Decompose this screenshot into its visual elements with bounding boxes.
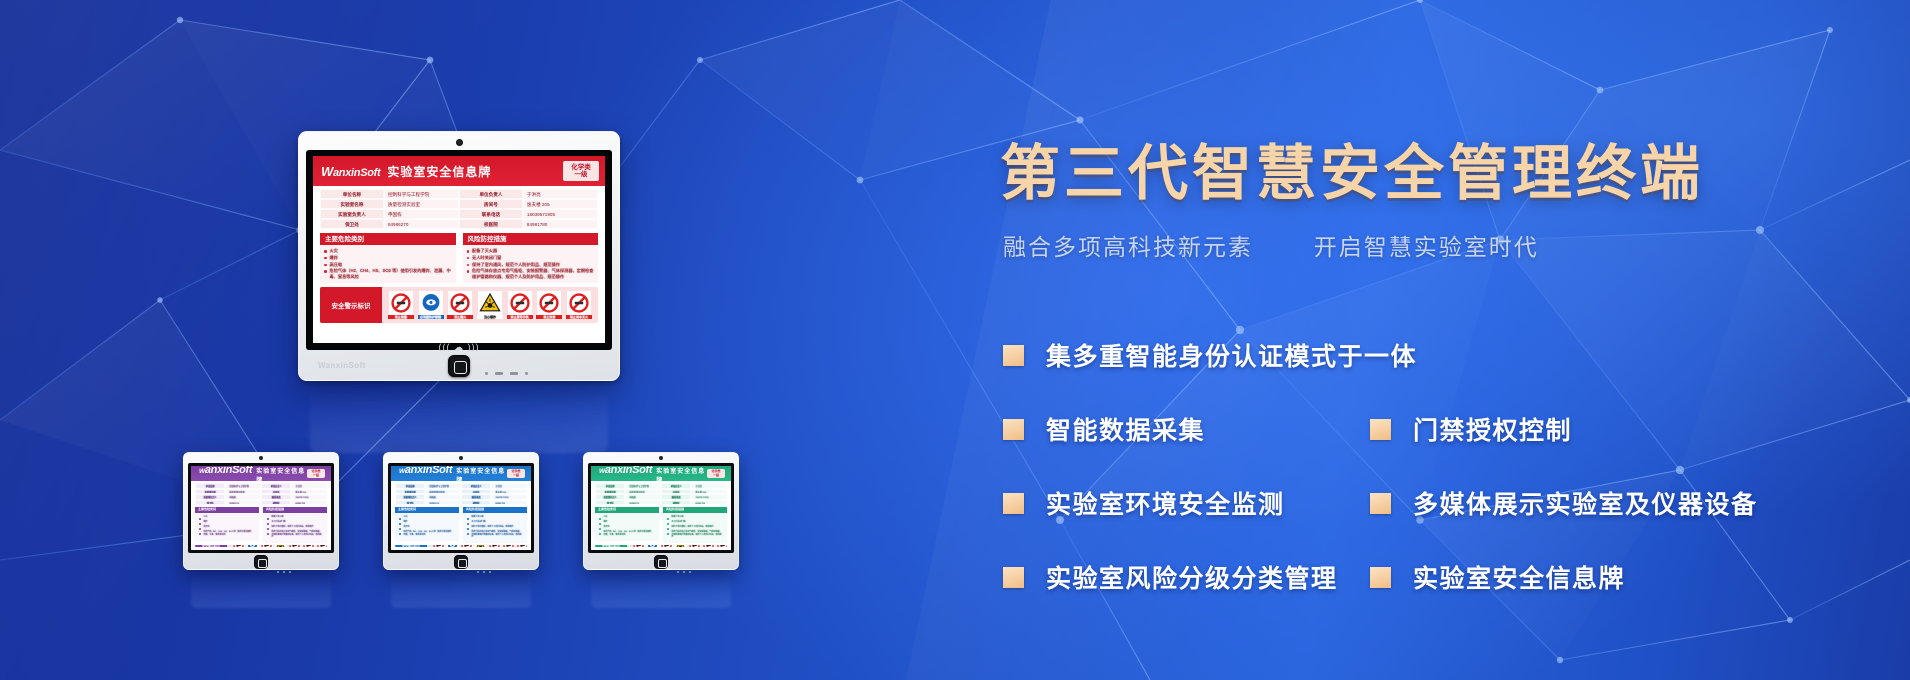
bullet-dot-icon: [324, 264, 327, 267]
bullet-dot-icon: [599, 528, 601, 530]
list-item-text: 无人时关闭门窗: [472, 255, 501, 260]
list-item-text: 高压电: [204, 526, 210, 529]
warning-sign: 禁止携带手机: [487, 545, 501, 547]
list-item-text: 保持了室内通风，规范个人防护用品、规范操作: [272, 526, 314, 529]
bullet-dot-icon: [324, 270, 327, 273]
list-item: 高压电: [399, 526, 455, 530]
no-water-icon: [516, 545, 528, 547]
banner-text-block: 第三代智慧安全管理终端 融合多项高科技新元素 开启智慧实验室时代 集多重智能身份…: [985, 0, 1910, 680]
table-cell-label: 房间号: [459, 199, 523, 209]
panel-right-header: 风险防控措施: [463, 233, 599, 245]
warning-icon-row: 禁止吸烟 必须戴防护眼镜 禁止烟火 当心爆炸 禁止携带手机 禁止饮食: [427, 545, 527, 547]
tablet-reflection: [391, 572, 531, 608]
feature-row: 集多重智能身份认证模式于一体: [985, 318, 1910, 392]
brand-logo: WanxinSoft 实验室安全信息牌: [199, 466, 307, 484]
list-item: 高压电: [199, 526, 255, 530]
tablet-screen[interactable]: WanxinSoft 实验室安全信息牌 化学类 一级 单位名称控制科学与工程学院…: [306, 150, 612, 350]
warning-sign-caption: 禁止携带手机: [507, 315, 533, 319]
no-water-icon: [316, 545, 328, 547]
hazard-panels: 主要危险类别 火灾爆炸高压电危险气体（H2、CH4、HS、SO2 等）使用引发的…: [391, 505, 531, 543]
bullet-dot-icon: [667, 523, 669, 525]
warning-sign: 禁止吸烟: [631, 545, 645, 547]
list-item-text: 危险气体存放点专用气瓶柜、安装报警器、气体探测器，定期检查维护管路和仪器、规范个…: [472, 531, 524, 539]
bullet-dot-icon: [199, 518, 201, 520]
lab-safety-info-sign: WanxinSoft 实验室安全信息牌 化学类 一级 单位名称控制科学与工程学院…: [313, 156, 605, 343]
warning-sign: 当心爆炸: [473, 545, 487, 547]
table-row: 实验室负责人申国栋联系电话18039571905: [320, 209, 598, 219]
warning-sign: 当心爆炸: [673, 545, 687, 547]
panel-control-measures: 风险防控措施 配备了灭火器无人时关闭门窗保持了室内通风，规范个人防护用品、规范操…: [463, 507, 527, 543]
table-cell-value: 质量检测实验室: [384, 199, 459, 209]
list-item-text: 火灾: [204, 516, 208, 519]
brand-name: anxinSoft: [205, 466, 252, 476]
panel-control-measures: 风险防控措施 配备了灭火器无人时关闭门窗保持了室内通风，规范个人防护用品、规范操…: [663, 507, 727, 543]
feature-row: 实验室环境安全监测 多媒体展示实验室及仪器设备: [985, 466, 1910, 540]
list-item-text: 火灾: [330, 248, 338, 253]
bullet-dot-icon: [199, 528, 201, 530]
list-item: 保持了室内通风，规范个人防护用品、规范操作: [467, 526, 523, 530]
feature-item-1: 智能数据采集: [985, 411, 1370, 447]
brand-name: anxinSoft: [333, 167, 380, 179]
feature-item-4: 多媒体展示实验室及仪器设备: [1370, 485, 1758, 521]
list-item-text: 配备了灭火器: [272, 516, 284, 519]
warning-sign: 禁止饮食: [301, 545, 315, 547]
warning-sign: 必须戴防护眼镜: [418, 291, 444, 319]
warning-bar-label: 安全警示标识: [395, 545, 427, 547]
lab-info-table: 单位名称控制科学与工程学院单位负责人于洪亮实验室名称质量检测实验室房间号逸夫楼 …: [191, 481, 331, 505]
wear-goggles-icon: [646, 545, 659, 547]
feature-label: 实验室风险分级分类管理: [1046, 559, 1338, 595]
sign-title: 实验室安全信息牌: [256, 466, 307, 484]
list-item: 火灾: [199, 516, 255, 520]
list-item: 火灾: [599, 516, 655, 520]
list-item-text: 危险气体存放点专用气瓶柜、安装报警器、气体探测器，定期检查维护管路和仪器、规范个…: [672, 531, 724, 539]
list-item-text: 配备了灭火器: [472, 248, 497, 253]
bullet-dot-icon: [467, 250, 470, 253]
bullet-dot-icon: [267, 528, 269, 530]
badge-level: 一级: [510, 474, 522, 477]
table-cell-label: 实验室负责人: [320, 209, 384, 219]
table-cell-value: 84986270: [384, 219, 459, 229]
warning-sign: 禁止用水灭火: [315, 545, 327, 547]
table-cell-label: 保卫处: [320, 219, 384, 229]
list-item: 配备了灭火器: [667, 516, 723, 520]
wear-goggles-icon: [419, 291, 443, 315]
brand-logo: WanxinSoft 实验室安全信息牌: [599, 466, 707, 484]
list-item-text: 高压电: [330, 262, 343, 267]
hazard-panels: 主要危险类别 火灾爆炸高压电危险气体（H2、CH4、HS、SO2 等）使用引发的…: [191, 505, 331, 543]
feature-item-3: 实验室环境安全监测: [985, 485, 1370, 521]
warning-sign: 禁止吸烟: [431, 545, 445, 547]
bullet-dot-icon: [324, 250, 327, 253]
page-title: 第三代智慧安全管理终端: [1000, 125, 1704, 212]
sign-header: WanxinSoft 实验室安全信息牌 化学类 一级: [591, 466, 731, 481]
bullet-dot-icon: [667, 518, 669, 520]
warning-sign: 当心爆炸: [477, 291, 503, 319]
bullet-dot-icon: [467, 528, 469, 530]
list-item: 火灾: [399, 516, 455, 520]
warning-sign-caption: 禁止烟火: [447, 315, 473, 319]
bullet-dot-icon: [399, 533, 401, 535]
panel-hazard-categories: 主要危险类别 火灾爆炸高压电危险气体（H2、CH4、HS、SO2 等）使用引发的…: [320, 233, 456, 283]
lab-safety-info-sign: WanxinSoft 实验室安全信息牌 化学类 一级 单位名称控制科学与工程学院…: [591, 466, 731, 550]
warning-sign: 禁止烟火: [259, 545, 273, 547]
bullet-dot-icon: [599, 523, 601, 525]
list-item: 火灾: [324, 248, 452, 253]
warning-hazard-icon: [674, 545, 687, 547]
no-smoking-icon: [632, 545, 645, 547]
list-item-text: 保持了室内通风，规范个人防护用品、规范操作: [472, 526, 514, 529]
subtitle-right: 开启智慧实验室时代: [1314, 234, 1539, 260]
sign-header: WanxinSoft 实验室安全信息牌 化学类 一级: [391, 466, 531, 481]
list-item-text: 爆炸: [404, 521, 408, 524]
feature-label: 多媒体展示实验室及仪器设备: [1413, 485, 1758, 521]
page-subtitle: 融合多项高科技新元素 开启智慧实验室时代: [1003, 228, 1539, 262]
list-item: 配备了灭火器: [467, 516, 523, 520]
warning-sign: 当心爆炸: [273, 545, 287, 547]
no-water-icon: [716, 545, 728, 547]
bullet-square-icon: [1003, 419, 1024, 440]
feature-label: 门禁授权控制: [1413, 411, 1572, 447]
sign-title: 实验室安全信息牌: [387, 163, 491, 180]
sign-title: 实验室安全信息牌: [656, 466, 707, 484]
warning-sign: 禁止烟火: [459, 545, 473, 547]
warning-hazard-icon: [474, 545, 487, 547]
feature-item-6: 实验室安全信息牌: [1370, 559, 1625, 595]
list-item: 高压电: [324, 262, 452, 267]
table-cell-label: 校医院: [459, 219, 523, 229]
feature-label: 实验室环境安全监测: [1046, 485, 1285, 521]
bullet-square-icon: [1003, 493, 1024, 514]
brand-logo: WanxinSoft 实验室安全信息牌: [399, 466, 507, 484]
panel-right-body: 配备了灭火器无人时关闭门窗保持了室内通风，规范个人防护用品、规范操作危险气体存放…: [463, 513, 527, 543]
list-item: 保持了室内通风，规范个人防护用品、规范操作: [267, 526, 323, 530]
warning-sign: 禁止烟火: [659, 545, 673, 547]
panel-left-body: 火灾爆炸高压电危险气体（H2、CH4、HS、SO2 等）使用引发的爆炸、泄漏、中…: [195, 513, 259, 541]
no-phone-icon: [508, 291, 532, 315]
warning-sign: 禁止携带手机: [507, 291, 533, 319]
list-item-text: 无人时关闭门窗: [472, 521, 486, 524]
list-item: 危险气体存放点专用气瓶柜、安装报警器、气体探测器，定期检查维护管路和仪器、规范个…: [667, 531, 723, 539]
bullet-dot-icon: [599, 518, 601, 520]
warning-sign: 禁止用水灭火: [566, 291, 592, 319]
lab-safety-info-sign: WanxinSoft 实验室安全信息牌 化学类 一级 单位名称控制科学与工程学院…: [391, 466, 531, 550]
no-smoking-icon: [389, 291, 413, 315]
list-item-text: 危险气体（H2、CH4、HS、SO2 等）使用引发的爆炸、泄漏、中毒、窒息等风险: [404, 531, 456, 536]
list-item: 配备了灭火器: [267, 516, 323, 520]
table-cell-value: 逸夫楼 205: [523, 199, 598, 209]
bullet-dot-icon: [399, 523, 401, 525]
list-item: 危险气体（H2、CH4、HS、SO2 等）使用引发的爆炸、泄漏、中毒、窒息等风险: [199, 531, 255, 536]
table-cell-label: 单位名称: [320, 189, 384, 199]
list-item-text: 危险气体存放点专用气瓶柜、安装报警器、气体探测器，定期检查维护管路和仪器、规范个…: [272, 531, 324, 539]
list-item: 爆炸: [399, 521, 455, 525]
hazard-panels: 主要危险类别 火灾爆炸高压电危险气体（H2、CH4、HS、SO2 等）使用引发的…: [313, 229, 605, 283]
home-button[interactable]: [654, 555, 668, 569]
banner-stage: WanxinSoft 实验室安全信息牌 化学类 一级 单位名称控制科学与工程学院…: [0, 0, 1910, 680]
badge-level: 一级: [710, 474, 722, 477]
list-item: 爆炸: [324, 255, 452, 260]
list-item-text: 爆炸: [330, 255, 338, 260]
badge-level: 一级: [310, 474, 322, 477]
table-cell-value: 18039571905: [523, 209, 598, 219]
no-smoking-icon: [432, 545, 445, 547]
warning-sign: 禁止携带手机: [687, 545, 701, 547]
front-camera-icon: [459, 456, 463, 460]
bullet-dot-icon: [267, 518, 269, 520]
feature-label: 实验室安全信息牌: [1413, 559, 1625, 595]
lab-safety-info-sign: WanxinSoft 实验室安全信息牌 化学类 一级 单位名称控制科学与工程学院…: [191, 466, 331, 550]
list-item-text: 爆炸: [204, 521, 208, 524]
no-phone-icon: [688, 545, 701, 547]
panel-hazard-categories: 主要危险类别 火灾爆炸高压电危险气体（H2、CH4、HS、SO2 等）使用引发的…: [395, 507, 459, 543]
warning-sign: 禁止吸烟: [388, 291, 414, 319]
list-item: 保持了室内通风，规范个人防护用品、规范操作: [467, 262, 595, 267]
warning-sign: 禁止用水灭火: [515, 545, 527, 547]
panel-hazard-categories: 主要危险类别 火灾爆炸高压电危险气体（H2、CH4、HS、SO2 等）使用引发的…: [595, 507, 659, 543]
list-item-text: 危险气体（H2、CH4、HS、SO2 等）使用引发的爆炸、泄漏、中毒、窒息等风险: [604, 531, 656, 536]
list-item-text: 配备了灭火器: [672, 516, 684, 519]
no-food-drink-icon: [302, 545, 315, 547]
sign-header: WanxinSoft 实验室安全信息牌 化学类 一级: [191, 466, 331, 481]
bullet-dot-icon: [599, 533, 601, 535]
no-water-icon: [567, 291, 591, 315]
list-item: 保持了室内通风，规范个人防护用品、规范操作: [667, 526, 723, 530]
warning-icon-row: 禁止吸烟 必须戴防护眼镜 禁止烟火 当心爆炸 禁止携带手机 禁止饮食: [227, 545, 327, 547]
feature-row: 实验室风险分级分类管理 实验室安全信息牌: [985, 540, 1910, 614]
table-cell-value: 于洪亮: [523, 189, 598, 199]
list-item-text: 高压电: [604, 526, 610, 529]
home-button[interactable]: [454, 555, 468, 569]
front-camera-icon: [456, 139, 463, 146]
list-item: 爆炸: [599, 521, 655, 525]
bullet-square-icon: [1370, 493, 1391, 514]
panel-control-measures: 风险防控措施 配备了灭火器无人时关闭门窗保持了室内通风，规范个人防护用品、规范操…: [463, 233, 599, 283]
list-item: 配备了灭火器: [467, 248, 595, 253]
no-open-flame-icon: [448, 291, 472, 315]
warning-sign: 必须戴防护眼镜: [445, 545, 459, 547]
front-camera-icon: [659, 456, 663, 460]
no-food-drink-icon: [537, 291, 561, 315]
wear-goggles-icon: [246, 545, 259, 547]
list-item: 危险气体存放点专用气瓶柜、安装报警器、气体探测器，定期检查维护管路和仪器、规范个…: [467, 531, 523, 539]
warning-sign: 禁止饮食: [536, 291, 562, 319]
warning-icon-row: 禁止吸烟 必须戴防护眼镜 禁止烟火 当心爆炸 禁止携带手机 禁止饮食: [382, 289, 598, 321]
bullet-square-icon: [1370, 419, 1391, 440]
warning-sign-caption: 禁止吸烟: [388, 315, 414, 319]
no-open-flame-icon: [260, 545, 273, 547]
warning-hazard-icon: [274, 545, 287, 547]
primary-tablet-device: WanxinSoft 实验室安全信息牌 化学类 一级 单位名称控制科学与工程学院…: [298, 131, 620, 381]
tablet-reflection: [591, 572, 731, 608]
hazard-class-badge: 化学类 一级: [563, 161, 599, 182]
bullet-square-icon: [1003, 345, 1024, 366]
list-item: 高压电: [599, 526, 655, 530]
warning-sign: 必须戴防护眼镜: [245, 545, 259, 547]
home-button[interactable]: [448, 355, 470, 377]
sign-header: WanxinSoft 实验室安全信息牌 化学类 一级: [313, 156, 605, 186]
panel-right-body: 配备了灭火器无人时关闭门窗保持了室内通风，规范个人防护用品、规范操作危险气体存放…: [263, 513, 327, 543]
bullet-square-icon: [1370, 567, 1391, 588]
list-item: 爆炸: [199, 521, 255, 525]
list-item: 无人时关闭门窗: [267, 521, 323, 525]
bullet-dot-icon: [199, 523, 201, 525]
bezel-brand-label: WanxinSoft: [318, 361, 366, 370]
warning-bar-label: 安全警示标识: [595, 545, 627, 547]
tablet-bottom-bezel: WanxinSoft ((( ☁ ))): [298, 352, 620, 381]
bullet-dot-icon: [324, 257, 327, 260]
no-phone-icon: [488, 545, 501, 547]
lab-info-table: 单位名称控制科学与工程学院单位负责人于洪亮实验室名称质量检测实验室房间号逸夫楼 …: [591, 481, 731, 505]
secondary-tablet-blue: WanxinSoft 实验室安全信息牌 化学类 一级 单位名称控制科学与工程学院…: [383, 452, 539, 570]
tablet-reflection: [310, 383, 608, 453]
list-item-text: 危险气体（H2、CH4、HS、SO2 等）使用引发的爆炸、泄漏、中毒、窒息等风险: [330, 268, 452, 279]
warning-sign: 禁止携带手机: [287, 545, 301, 547]
panel-control-measures: 风险防控措施 配备了灭火器无人时关闭门窗保持了室内通风，规范个人防护用品、规范操…: [263, 507, 327, 543]
warning-sign: 必须戴防护眼镜: [645, 545, 659, 547]
list-item-text: 保持了室内通风，规范个人防护用品、规范操作: [672, 526, 714, 529]
hazard-class-badge: 化学类 一级: [307, 469, 325, 478]
panel-hazard-categories: 主要危险类别 火灾爆炸高压电危险气体（H2、CH4、HS、SO2 等）使用引发的…: [195, 507, 259, 543]
panel-left-header: 主要危险类别: [320, 233, 456, 245]
bullet-dot-icon: [467, 518, 469, 520]
safety-warning-bar: 安全警示标识 禁止吸烟 必须戴防护眼镜 禁止烟火 当心爆炸: [595, 545, 727, 547]
secondary-tablet-green: WanxinSoft 实验室安全信息牌 化学类 一级 单位名称控制科学与工程学院…: [583, 452, 739, 570]
nfc-reader-icon: ((( ☁ ))): [433, 341, 485, 353]
list-item: 危险气体（H2、CH4、HS、SO2 等）使用引发的爆炸、泄漏、中毒、窒息等风险: [399, 531, 455, 536]
bullet-dot-icon: [467, 533, 469, 535]
table-row: 实验室名称质量检测实验室房间号逸夫楼 205: [320, 199, 598, 209]
table-cell-value: 控制科学与工程学院: [384, 189, 459, 199]
home-button[interactable]: [254, 555, 268, 569]
bullet-dot-icon: [399, 518, 401, 520]
sign-title: 实验室安全信息牌: [456, 466, 507, 484]
feature-label: 集多重智能身份认证模式于一体: [1046, 337, 1417, 373]
table-cell-label: 联系电话: [459, 209, 523, 219]
no-food-drink-icon: [502, 545, 515, 547]
safety-warning-bar: 安全警示标识 禁止吸烟 必须戴防护眼镜 禁止烟火 当心爆炸: [195, 545, 327, 547]
table-cell-label: 实验室名称: [320, 199, 384, 209]
lab-info-table: 单位名称控制科学与工程学院单位负责人于洪亮实验室名称质量检测实验室房间号逸夫楼 …: [313, 186, 605, 229]
no-open-flame-icon: [460, 545, 473, 547]
brand-name: anxinSoft: [405, 466, 452, 476]
feature-item-2: 门禁授权控制: [1370, 411, 1572, 447]
feature-item-5: 实验室风险分级分类管理: [985, 559, 1370, 595]
brand-name: anxinSoft: [605, 466, 652, 476]
list-item: 危险气体（H2、CH4、HS、SO2 等）使用引发的爆炸、泄漏、中毒、窒息等风险: [599, 531, 655, 536]
bullet-square-icon: [1003, 567, 1024, 588]
tablet-screen[interactable]: WanxinSoft 实验室安全信息牌 化学类 一级 单位名称控制科学与工程学院…: [188, 463, 334, 553]
hazard-panels: 主要危险类别 火灾爆炸高压电危险气体（H2、CH4、HS、SO2 等）使用引发的…: [591, 505, 731, 543]
feature-label: 智能数据采集: [1046, 411, 1205, 447]
bullet-dot-icon: [467, 257, 470, 260]
tablet-reflection: [191, 572, 331, 608]
no-open-flame-icon: [660, 545, 673, 547]
warning-sign: 禁止烟火: [447, 291, 473, 319]
no-smoking-icon: [232, 545, 245, 547]
list-item: 无人时关闭门窗: [667, 521, 723, 525]
list-item-text: 火灾: [604, 516, 608, 519]
table-row: 保卫处84986270校医院84981780: [320, 219, 598, 229]
warning-sign-caption: 当心爆炸: [477, 315, 503, 319]
bullet-dot-icon: [199, 533, 201, 535]
hazard-class-badge: 化学类 一级: [507, 469, 525, 478]
table-cell-label: 单位负责人: [459, 189, 523, 199]
secondary-tablet-purple: WanxinSoft 实验室安全信息牌 化学类 一级 单位名称控制科学与工程学院…: [183, 452, 339, 570]
list-item-text: 危险气体（H2、CH4、HS、SO2 等）使用引发的爆炸、泄漏、中毒、窒息等风险: [204, 531, 256, 536]
warning-sign-caption: 禁止用水灭火: [566, 315, 592, 319]
warning-hazard-icon: [478, 291, 502, 315]
bullet-dot-icon: [667, 528, 669, 530]
list-item-text: 配备了灭火器: [472, 516, 484, 519]
no-food-drink-icon: [702, 545, 715, 547]
brand-logo: WanxinSoft 实验室安全信息牌: [321, 163, 491, 180]
bullet-dot-icon: [467, 264, 470, 267]
panel-left-body: 火灾爆炸高压电危险气体（H2、CH4、HS、SO2 等）使用引发的爆炸、泄漏、中…: [595, 513, 659, 541]
subtitle-left: 融合多项高科技新元素: [1003, 234, 1253, 260]
bullet-dot-icon: [267, 523, 269, 525]
list-item-text: 火灾: [404, 516, 408, 519]
bullet-dot-icon: [267, 533, 269, 535]
table-row: 单位名称控制科学与工程学院单位负责人于洪亮: [320, 189, 598, 199]
warning-sign-caption: 禁止饮食: [536, 315, 562, 319]
warning-sign: 禁止饮食: [501, 545, 515, 547]
tablet-screen[interactable]: WanxinSoft 实验室安全信息牌 化学类 一级 单位名称控制科学与工程学院…: [388, 463, 534, 553]
bullet-dot-icon: [467, 270, 470, 273]
bullet-dot-icon: [467, 523, 469, 525]
list-item-text: 无人时关闭门窗: [672, 521, 686, 524]
warning-sign: 禁止吸烟: [231, 545, 245, 547]
no-phone-icon: [288, 545, 301, 547]
list-item: 危险气体（H2、CH4、HS、SO2 等）使用引发的爆炸、泄漏、中毒、窒息等风险: [324, 268, 452, 279]
list-item-text: 保持了室内通风，规范个人防护用品、规范操作: [472, 262, 560, 267]
feature-row: 智能数据采集 门禁授权控制: [985, 392, 1910, 466]
panel-right-body: 配备了灭火器无人时关闭门窗保持了室内通风，规范个人防护用品、规范操作危险气体存放…: [663, 513, 727, 543]
lab-info-table: 单位名称控制科学与工程学院单位负责人于洪亮实验室名称质量检测实验室房间号逸夫楼 …: [391, 481, 531, 505]
warning-bar-label: 安全警示标识: [320, 287, 382, 323]
table-cell-value: 申国栋: [384, 209, 459, 219]
warning-sign-caption: 必须戴防护眼镜: [418, 315, 444, 319]
table-cell-value: 84981780: [523, 219, 598, 229]
bullet-dot-icon: [399, 528, 401, 530]
list-item-text: 危险气体存放点专用气瓶柜、安装报警器、气体探测器，定期检查维护管路和仪器、规范个…: [472, 268, 594, 279]
wear-goggles-icon: [446, 545, 459, 547]
panel-left-body: 火灾爆炸高压电危险气体（H2、CH4、HS、SO2 等）使用引发的爆炸、泄漏、中…: [395, 513, 459, 541]
hazard-class-badge: 化学类 一级: [707, 469, 725, 478]
sensor-dots: [471, 141, 493, 144]
bullet-dot-icon: [667, 533, 669, 535]
feature-item-0: 集多重智能身份认证模式于一体: [985, 337, 1370, 373]
warning-sign: 禁止用水灭火: [715, 545, 727, 547]
brand-initial: W: [321, 164, 333, 179]
list-item: 无人时关闭门窗: [467, 521, 523, 525]
safety-warning-bar: 安全警示标识 禁止吸烟 必须戴防护眼镜 禁止烟火 当心爆炸: [320, 287, 598, 323]
badge-level: 一级: [570, 171, 592, 178]
list-item-text: 高压电: [404, 526, 410, 529]
front-camera-icon: [259, 456, 263, 460]
list-item-text: 无人时关闭门窗: [272, 521, 286, 524]
list-item: 危险气体存放点专用气瓶柜、安装报警器、气体探测器，定期检查维护管路和仪器、规范个…: [267, 531, 323, 539]
badge-category: 化学类: [570, 164, 592, 171]
warning-bar-label: 安全警示标识: [195, 545, 227, 547]
list-item-text: 爆炸: [604, 521, 608, 524]
tablet-screen[interactable]: WanxinSoft 实验室安全信息牌 化学类 一级 单位名称控制科学与工程学院…: [588, 463, 734, 553]
feature-list: 集多重智能身份认证模式于一体 智能数据采集 门禁授权控制 实验室环境安全监测: [985, 318, 1910, 614]
list-item: 危险气体存放点专用气瓶柜、安装报警器、气体探测器，定期检查维护管路和仪器、规范个…: [467, 268, 595, 279]
list-item: 无人时关闭门窗: [467, 255, 595, 260]
panel-right-body: 配备了灭火器无人时关闭门窗保持了室内通风，规范个人防护用品、规范操作危险气体存放…: [463, 245, 599, 283]
warning-sign: 禁止饮食: [701, 545, 715, 547]
